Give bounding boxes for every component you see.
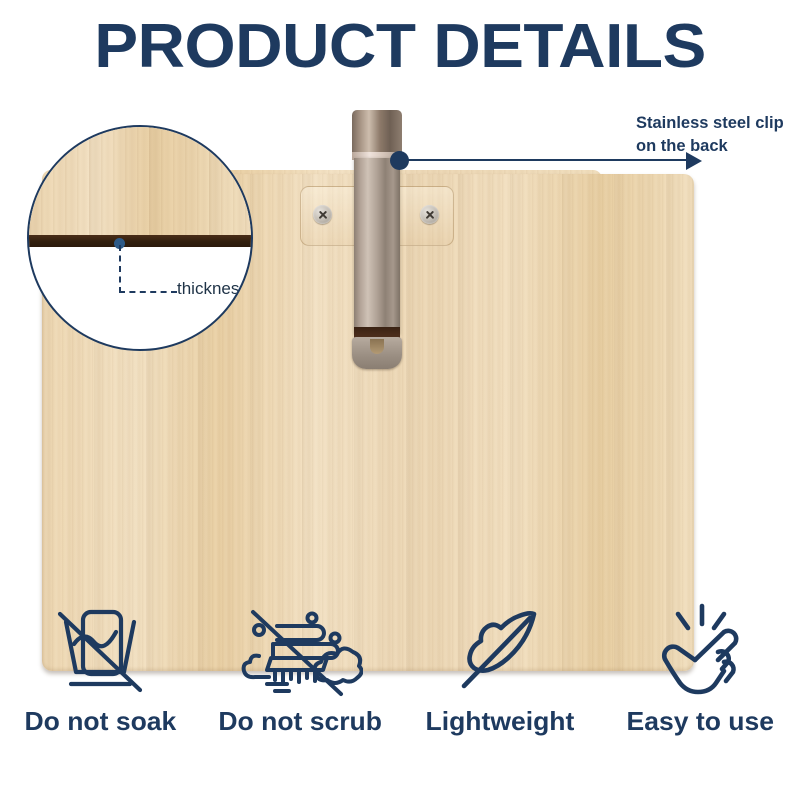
page-title: PRODUCT DETAILS	[0, 16, 800, 78]
magnifier-wood-face	[29, 127, 253, 239]
callout-line-2: on the back	[636, 137, 728, 155]
feature-do-not-scrub: Do not scrub	[205, 600, 395, 737]
thickness-magnifier: thickness: 6mm	[27, 125, 253, 351]
thickness-leader-horizontal	[119, 291, 177, 293]
feature-label: Lightweight	[426, 706, 575, 737]
tap-hand-icon	[648, 600, 752, 698]
clip-foot-detail	[370, 339, 384, 354]
thickness-label: thickness: 6mm	[177, 279, 253, 299]
feature-label: Do not soak	[24, 706, 176, 737]
feature-lightweight: Lightweight	[405, 600, 595, 737]
screw-left	[313, 205, 332, 224]
clip-top-bend	[352, 110, 402, 156]
product-details-infographic: PRODUCT DETAILS thickness: 6mm Stainless…	[0, 0, 800, 800]
callout-line-1: Stainless steel clip	[636, 114, 784, 132]
no-scrub-icon	[237, 600, 363, 698]
callout-leader-line	[399, 159, 689, 161]
feature-list: Do not soak	[0, 600, 800, 760]
feather-icon	[450, 600, 550, 698]
feature-label: Easy to use	[626, 706, 773, 737]
screw-right	[420, 205, 439, 224]
feature-label: Do not scrub	[218, 706, 382, 737]
callout-label: Stainless steel clip on the back	[636, 112, 800, 159]
stainless-steel-clip	[354, 158, 400, 334]
feature-do-not-soak: Do not soak	[5, 600, 195, 737]
product-image-stage: thickness: 6mm Stainless steel clip on t…	[0, 96, 800, 596]
magnifier-board-edge	[29, 235, 253, 247]
feature-easy-to-use: Easy to use	[605, 600, 795, 737]
thickness-leader-vertical	[119, 245, 121, 293]
no-soak-icon	[46, 600, 154, 698]
